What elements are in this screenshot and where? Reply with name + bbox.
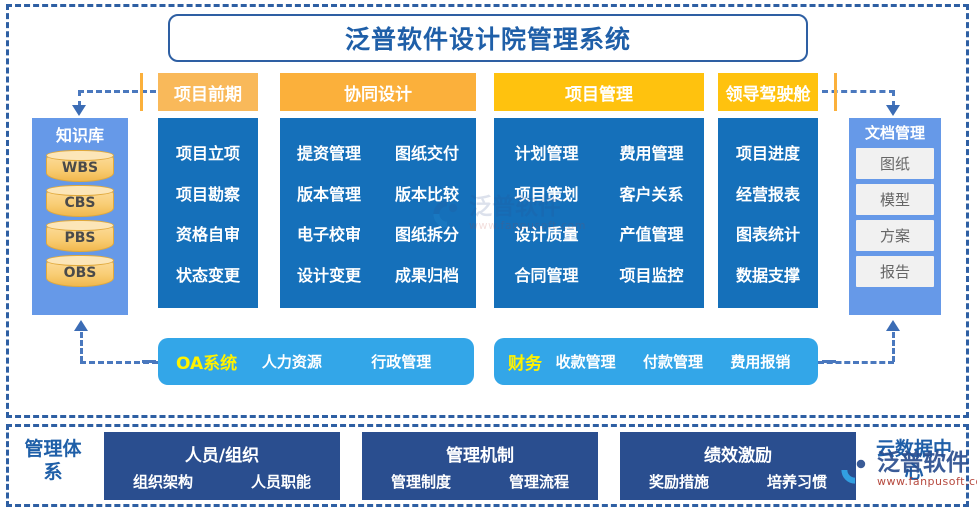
column-header-label: 协同设计	[344, 80, 412, 105]
oa-system-label: OA系统	[176, 349, 237, 374]
panel-item[interactable]: 图表统计	[718, 221, 818, 245]
arrow-down-to-kb	[72, 105, 86, 116]
panel-item[interactable]: 成果归档	[395, 262, 459, 286]
panel-row: 设计变更 成果归档	[280, 262, 476, 286]
panel-row: 合同管理 项目监控	[494, 262, 704, 286]
panel-project-preliminary: 项目立项 项目勘察 资格自审 状态变更	[158, 118, 258, 308]
knowledge-base-item-label: WBS	[47, 160, 113, 176]
panel-row: 提资管理 图纸交付	[280, 140, 476, 164]
document-management-title: 文档管理	[856, 122, 934, 143]
column-header-leadership-cockpit[interactable]: 领导驾驶舱	[718, 73, 818, 111]
panel-item[interactable]: 电子校审	[297, 221, 361, 245]
bottom-card-management-mechanism: 管理机制 管理制度 管理流程	[362, 432, 598, 500]
panel-item[interactable]: 版本管理	[297, 181, 361, 205]
oa-system-items: 人力资源 行政管理	[237, 351, 456, 372]
column-header-collaborative-design[interactable]: 协同设计	[280, 73, 476, 111]
bottom-card-title: 绩效激励	[620, 441, 856, 466]
panel-item[interactable]: 费用管理	[619, 140, 683, 164]
marker-left-accent	[140, 73, 143, 111]
panel-item[interactable]: 状态变更	[158, 262, 258, 286]
bar-item[interactable]: 行政管理	[371, 351, 431, 372]
arrow-up-to-kb	[74, 320, 88, 331]
bar-item[interactable]: 人力资源	[262, 351, 322, 372]
connector-pre-to-kb-horizontal	[78, 90, 156, 93]
connector-lead-to-doc-horizontal	[822, 90, 895, 93]
column-header-project-management[interactable]: 项目管理	[494, 73, 704, 111]
bottom-card-personnel-organization: 人员/组织 组织架构 人员职能	[104, 432, 340, 500]
knowledge-base-item-label: PBS	[47, 230, 113, 246]
knowledge-base-panel: 知识库 WBS CBS PBS OBS	[32, 118, 128, 315]
panel-item[interactable]: 产值管理	[619, 221, 683, 245]
database-cylinder-icon[interactable]: PBS	[46, 220, 114, 252]
panel-item[interactable]: 图纸交付	[395, 140, 459, 164]
column-header-label: 项目前期	[174, 80, 242, 105]
bar-item[interactable]: 付款管理	[643, 351, 703, 372]
system-title-box: 泛普软件设计院管理系统	[168, 14, 808, 62]
bottom-card-item[interactable]: 管理流程	[509, 471, 569, 492]
database-cylinder-icon[interactable]: OBS	[46, 255, 114, 287]
bar-item[interactable]: 费用报销	[730, 351, 790, 372]
management-system-label: 管理体系	[16, 438, 90, 484]
bottom-card-item[interactable]: 管理制度	[391, 471, 451, 492]
finance-label: 财务	[508, 349, 542, 374]
document-item[interactable]: 报告	[856, 256, 934, 287]
arrow-down-to-doc	[886, 105, 900, 116]
panel-item[interactable]: 图纸拆分	[395, 221, 459, 245]
tick-left-of-oa-bar	[142, 360, 156, 363]
panel-project-management: 计划管理 费用管理 项目策划 客户关系 设计质量 产值管理 合同管理 项目监控	[494, 118, 704, 308]
panel-item[interactable]: 经营报表	[718, 181, 818, 205]
cloud-data-center-label: 云数据中心	[872, 438, 956, 484]
panel-item[interactable]: 版本比较	[395, 181, 459, 205]
panel-row: 设计质量 产值管理	[494, 221, 704, 245]
bottom-card-title: 人员/组织	[104, 441, 340, 466]
page-title: 泛普软件设计院管理系统	[345, 20, 631, 56]
marker-right-accent	[834, 73, 837, 111]
panel-item[interactable]: 项目策划	[514, 181, 578, 205]
bottom-card-performance-incentive: 绩效激励 奖励措施 培养习惯	[620, 432, 856, 500]
panel-row: 电子校审 图纸拆分	[280, 221, 476, 245]
connector-finance-to-doc-vertical	[892, 332, 895, 362]
panel-collaborative-design: 提资管理 图纸交付 版本管理 版本比较 电子校审 图纸拆分 设计变更 成果归档	[280, 118, 476, 308]
document-item[interactable]: 模型	[856, 184, 934, 215]
panel-item[interactable]: 提资管理	[297, 140, 361, 164]
panel-item[interactable]: 项目立项	[158, 140, 258, 164]
bottom-card-item[interactable]: 奖励措施	[649, 471, 709, 492]
panel-item[interactable]: 资格自审	[158, 221, 258, 245]
panel-item[interactable]: 客户关系	[619, 181, 683, 205]
knowledge-base-item-label: CBS	[47, 195, 113, 211]
panel-row: 版本管理 版本比较	[280, 181, 476, 205]
bottom-card-item[interactable]: 人员职能	[251, 471, 311, 492]
panel-item[interactable]: 计划管理	[514, 140, 578, 164]
panel-item[interactable]: 项目进度	[718, 140, 818, 164]
bottom-card-item[interactable]: 组织架构	[133, 471, 193, 492]
panel-item[interactable]: 设计变更	[297, 262, 361, 286]
bottom-card-title: 管理机制	[362, 441, 598, 466]
panel-item[interactable]: 设计质量	[514, 221, 578, 245]
panel-item[interactable]: 项目勘察	[158, 181, 258, 205]
panel-item[interactable]: 项目监控	[619, 262, 683, 286]
knowledge-base-item-label: OBS	[47, 265, 113, 281]
database-cylinder-icon[interactable]: WBS	[46, 150, 114, 182]
bottom-card-items: 组织架构 人员职能	[104, 471, 340, 492]
panel-document-management: 文档管理 图纸 模型 方案 报告	[849, 118, 941, 315]
panel-item[interactable]: 合同管理	[514, 262, 578, 286]
panel-row: 计划管理 费用管理	[494, 140, 704, 164]
upper-dashed-frame	[6, 4, 969, 418]
arrow-up-to-doc	[886, 320, 900, 331]
finance-items: 收款管理 付款管理 费用报销	[542, 351, 804, 372]
column-header-project-preliminary[interactable]: 项目前期	[158, 73, 258, 111]
column-header-label: 领导驾驶舱	[726, 80, 811, 105]
document-item[interactable]: 图纸	[856, 148, 934, 179]
connector-oa-to-kb-vertical	[80, 332, 83, 362]
oa-system-bar: OA系统 人力资源 行政管理	[158, 338, 474, 385]
column-header-label: 项目管理	[565, 80, 633, 105]
knowledge-base-title: 知识库	[32, 122, 128, 146]
bar-item[interactable]: 收款管理	[556, 351, 616, 372]
panel-leadership-cockpit: 项目进度 经营报表 图表统计 数据支撑	[718, 118, 818, 308]
document-item[interactable]: 方案	[856, 220, 934, 251]
bottom-card-item[interactable]: 培养习惯	[767, 471, 827, 492]
panel-row: 项目策划 客户关系	[494, 181, 704, 205]
tick-right-of-finance-bar	[822, 360, 836, 363]
database-cylinder-icon[interactable]: CBS	[46, 185, 114, 217]
panel-item[interactable]: 数据支撑	[718, 262, 818, 286]
bottom-card-items: 奖励措施 培养习惯	[620, 471, 856, 492]
finance-bar: 财务 收款管理 付款管理 费用报销	[494, 338, 818, 385]
diagram-canvas: 泛普软件设计院管理系统 项目前期 协同设计 项目管理 领导驾驶舱 知识库 WBS	[0, 0, 977, 511]
bottom-card-items: 管理制度 管理流程	[362, 471, 598, 492]
